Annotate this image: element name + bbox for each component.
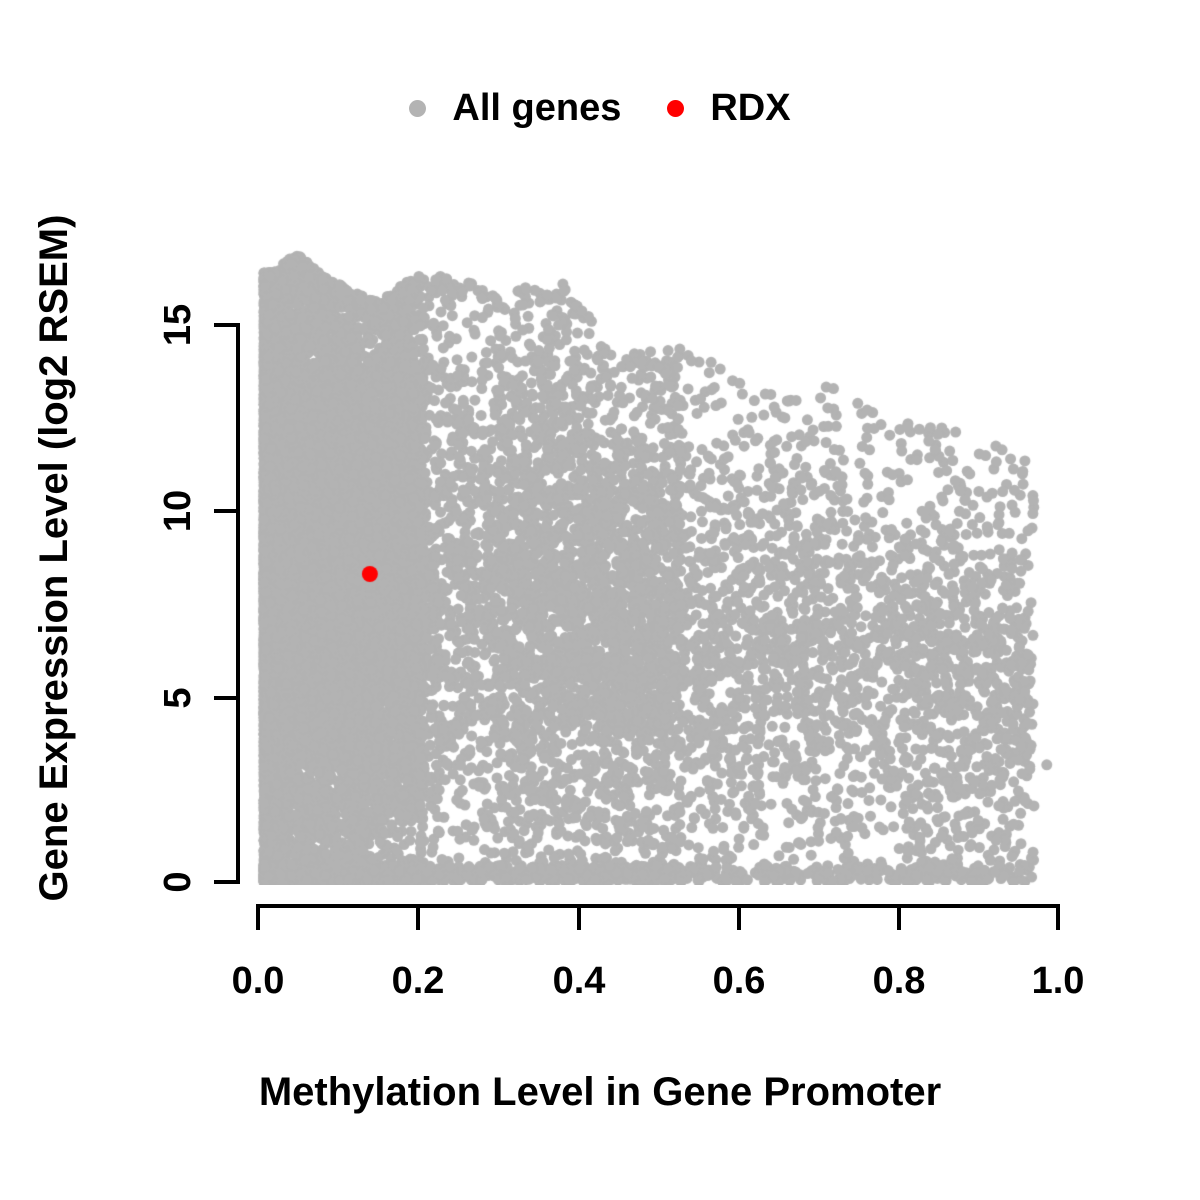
scatter-plot-figure: All genes RDX 15 10 5 0 0.0 0.2 0.4 0.6 … [0, 0, 1200, 1200]
x-axis-tick-label-0.2: 0.2 [358, 962, 478, 1000]
x-axis-tick-label-0.4: 0.4 [519, 962, 639, 1000]
x-axis-line [256, 904, 1060, 908]
legend-entry-rdx: RDX [667, 89, 790, 127]
legend-marker-circle-icon [667, 100, 684, 117]
y-axis-tick-label-15: 15 [150, 297, 206, 353]
x-axis-tick-0.0 [256, 904, 260, 930]
x-axis-title: Methylation Level in Gene Promoter [0, 1072, 1200, 1112]
y-axis-tick-label-0: 0 [150, 854, 206, 910]
y-axis-tick-15 [214, 323, 240, 327]
legend-label-all-genes: All genes [452, 89, 621, 127]
x-axis-tick-label-0.8: 0.8 [839, 962, 959, 1000]
x-axis-tick-0.6 [737, 904, 741, 930]
y-axis-line [236, 323, 240, 884]
y-axis-tick-5 [214, 696, 240, 700]
y-axis-tick-0 [214, 880, 240, 884]
y-axis-tick-label-5: 5 [150, 670, 206, 726]
x-axis-tick-0.2 [416, 904, 420, 930]
legend-label-rdx: RDX [710, 89, 790, 127]
plot-area [256, 240, 1058, 885]
chart-legend: All genes RDX [0, 78, 1200, 138]
legend-marker-circle-icon [409, 100, 426, 117]
y-axis-title: Gene Expression Level (log2 RSEM) [26, 138, 82, 978]
x-axis-tick-label-0.0: 0.0 [198, 962, 318, 1000]
x-axis-tick-0.4 [577, 904, 581, 930]
scatter-points-layer [256, 240, 1058, 885]
x-axis-tick-label-1.0: 1.0 [998, 962, 1118, 1000]
x-axis-tick-label-0.6: 0.6 [679, 962, 799, 1000]
y-axis-tick-10 [214, 509, 240, 513]
legend-entry-all-genes: All genes [409, 89, 621, 127]
x-axis-tick-1.0 [1056, 904, 1060, 930]
x-axis-tick-0.8 [897, 904, 901, 930]
